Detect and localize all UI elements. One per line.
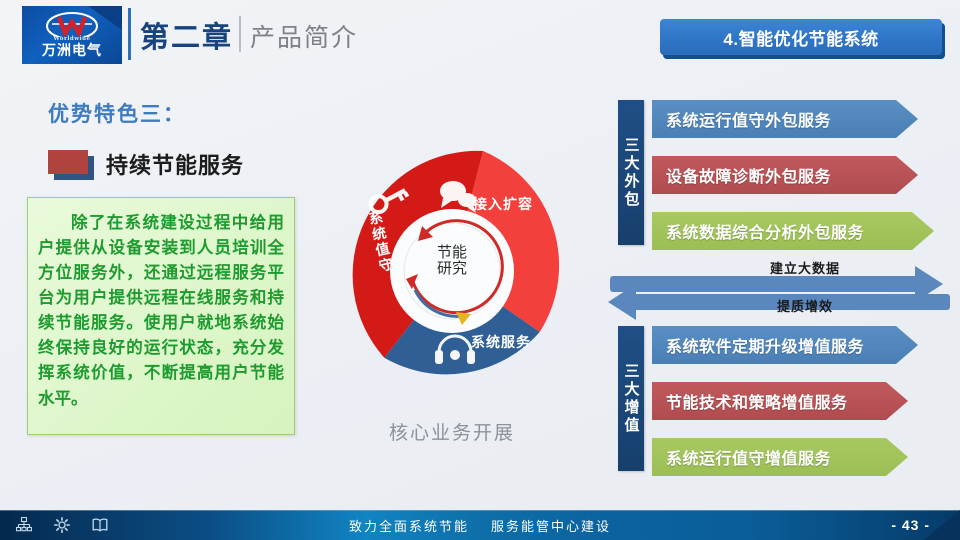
chevron-outsourcing-3[interactable]: 系统数据综合分析外包服务: [652, 212, 934, 250]
chevron-label: 节能技术和策略增值服务: [666, 389, 848, 413]
logo-chinese-name: 万洲电气: [22, 40, 122, 60]
footer-slogan: 致力全面系统节能 服务能管中心建设: [0, 510, 960, 540]
chevron-label: 设备故障诊断外包服务: [666, 163, 831, 187]
chevron-label: 系统运行值守增值服务: [666, 445, 831, 469]
page-number: - 43 -: [891, 510, 930, 540]
donut-caption: 核心业务开展: [323, 418, 581, 445]
chevron-outsourcing-2[interactable]: 设备故障诊断外包服务: [652, 156, 918, 194]
section-banner: 4.智能优化节能系统: [660, 19, 942, 55]
connector-label-top: 建立大数据: [660, 258, 950, 277]
chevron-outsourcing-1[interactable]: 系统运行值守外包服务: [652, 100, 918, 138]
header-sub-divider: [239, 16, 241, 52]
description-box: 除了在系统建设过程中给用户提供从设备安装到人员培训全方位服务外，还通过远程服务平…: [27, 197, 295, 435]
banner-plate: 4.智能优化节能系统: [660, 19, 942, 55]
bullet-title: 持续节能服务: [106, 148, 244, 180]
donut-center-line: 节能: [323, 245, 581, 261]
donut-center-label: 节能研究: [323, 245, 581, 277]
company-logo: Worldwide 万洲电气: [22, 6, 122, 64]
connector-label-bottom: 提质增效: [660, 296, 950, 315]
footer-slogan-right: 服务能管中心建设: [491, 516, 611, 535]
chevron-label: 系统软件定期升级增值服务: [666, 333, 864, 357]
header-divider: [128, 8, 131, 60]
footer-slogan-left: 致力全面系统节能: [349, 516, 469, 535]
group-tab-outsourcing: 三大外包: [618, 100, 644, 245]
chevron-value-2[interactable]: 节能技术和策略增值服务: [652, 382, 908, 420]
connector-arrow-right: [610, 276, 940, 292]
banner-title: 4.智能优化节能系统: [723, 25, 878, 50]
chevron-label: 系统数据综合分析外包服务: [666, 219, 864, 243]
connector-arrow-left-head: [608, 284, 636, 320]
chapter-title: 第二章: [140, 14, 233, 56]
feature-heading: 优势特色三：: [48, 98, 186, 128]
chevron-value-1[interactable]: 系统软件定期升级增值服务: [652, 326, 918, 364]
donut-center-line: 研究: [323, 261, 581, 277]
slide-canvas: Worldwide 万洲电气 第二章 产品简介 4.智能优化节能系统 优势特色三…: [0, 0, 960, 540]
slide-footer: 致力全面系统节能 服务能管中心建设 - 43 -: [0, 510, 960, 540]
bullet-square-icon: [48, 150, 88, 174]
bullet-heading-row: 持续节能服务: [48, 150, 308, 184]
chevron-value-3[interactable]: 系统运行值守增值服务: [652, 438, 908, 476]
w-monogram-icon: [44, 11, 100, 37]
group-tab-value-added: 三大增值: [618, 326, 644, 471]
page-subtitle: 产品简介: [250, 18, 358, 54]
slide-header: Worldwide 万洲电气 第二章 产品简介 4.智能优化节能系统: [0, 0, 960, 72]
description-text: 除了在系统建设过程中给用户提供从设备安装到人员培训全方位服务外，还通过远程服务平…: [38, 210, 284, 411]
core-business-donut-chart: 接入扩容 系统值守 系统服务 节能研究: [323, 142, 581, 400]
chevron-label: 系统运行值守外包服务: [666, 107, 831, 131]
